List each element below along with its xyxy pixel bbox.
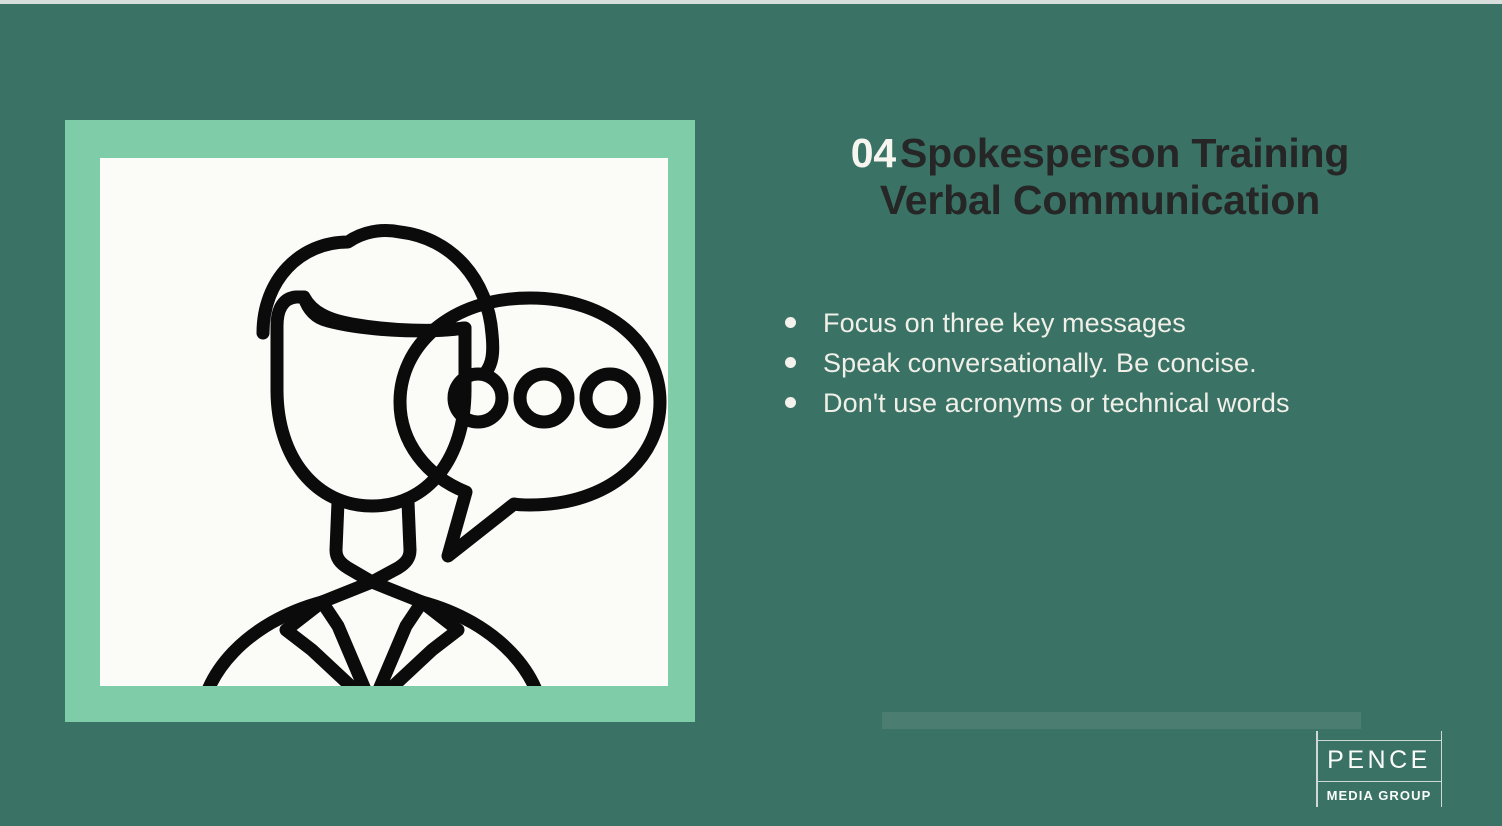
list-item: Speak conversationally. Be concise.	[785, 348, 1465, 379]
title-line-1: 04Spokesperson Training	[740, 130, 1460, 177]
list-item-label: Focus on three key messages	[823, 308, 1186, 339]
spokesperson-speech-bubble-icon	[100, 158, 668, 686]
logo-name: PENCE	[1316, 748, 1442, 773]
accent-bar	[882, 712, 1361, 729]
illustration-panel	[100, 158, 668, 686]
logo-subtitle: MEDIA GROUP	[1316, 789, 1442, 802]
list-item-label: Don't use acronyms or technical words	[823, 388, 1290, 419]
title-line-1-text: Spokesperson Training	[900, 130, 1349, 176]
bullet-dot-icon	[785, 397, 796, 408]
page-title: 04Spokesperson Training Verbal Communica…	[740, 130, 1460, 223]
bullet-dot-icon	[785, 357, 796, 368]
list-item: Don't use acronyms or technical words	[785, 388, 1465, 419]
title-line-2: Verbal Communication	[740, 177, 1460, 224]
slide-content: 04Spokesperson Training Verbal Communica…	[740, 130, 1460, 223]
bullet-dot-icon	[785, 317, 796, 328]
top-edge-strip	[0, 0, 1502, 4]
list-item: Focus on three key messages	[785, 308, 1465, 339]
illustration-frame	[65, 120, 695, 722]
brand-logo: PENCE MEDIA GROUP	[1316, 731, 1444, 807]
key-points-list: Focus on three key messages Speak conver…	[785, 308, 1465, 428]
presentation-slide: 04Spokesperson Training Verbal Communica…	[0, 0, 1502, 826]
list-item-label: Speak conversationally. Be concise.	[823, 348, 1257, 379]
section-number: 04	[851, 130, 896, 176]
